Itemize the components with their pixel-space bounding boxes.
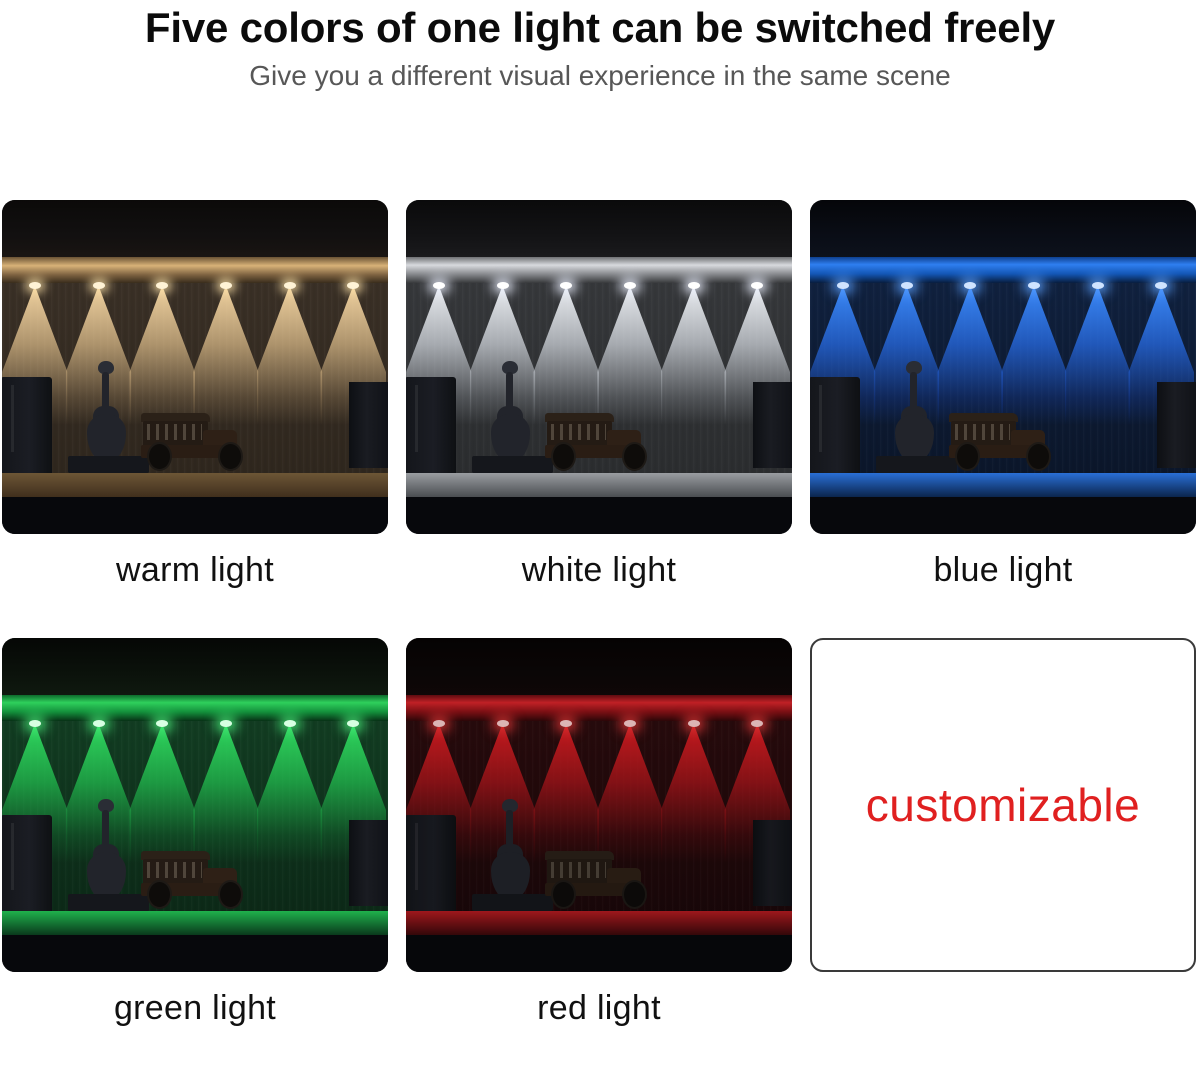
vintage-toy-car: [141, 851, 245, 909]
cello-body: [87, 852, 126, 899]
shelf-floor: [810, 473, 1196, 497]
light-cone: [533, 286, 599, 426]
cello-book-base: [876, 456, 957, 473]
gallery-cell-customizable: customizable: [810, 638, 1196, 1028]
cabinet-interior: [406, 257, 792, 498]
cabinet-base: [2, 497, 388, 534]
cello-body: [895, 414, 934, 461]
cello-body: [491, 414, 530, 461]
vintage-toy-car: [141, 413, 245, 471]
led-puck-icon: [624, 282, 636, 289]
led-puck-icon: [284, 720, 296, 727]
light-cone: [597, 724, 663, 864]
led-puck-icon: [93, 282, 105, 289]
led-puck-lights: [2, 282, 388, 294]
cello-figurine: [895, 363, 934, 462]
led-puck-icon: [347, 720, 359, 727]
led-puck-icon: [433, 282, 445, 289]
car-wheel: [955, 442, 980, 471]
led-puck-icon: [751, 282, 763, 289]
car-wheel: [218, 442, 243, 471]
led-puck-icon: [156, 720, 168, 727]
led-puck-icon: [837, 282, 849, 289]
light-cone: [533, 724, 599, 864]
cabinet-interior: [2, 695, 388, 936]
cabinet-scene: [406, 638, 792, 972]
led-puck-icon: [156, 282, 168, 289]
led-puck-icon: [284, 282, 296, 289]
book-stack-right: [349, 820, 388, 907]
book-stack-right: [1157, 382, 1196, 469]
led-puck-icon: [497, 720, 509, 727]
gallery-cell-blue: blue light: [810, 200, 1196, 590]
led-puck-icon: [688, 720, 700, 727]
light-color-gallery: warm light: [2, 200, 1198, 1028]
shelf-floor: [2, 473, 388, 497]
book-stack-left: [2, 377, 52, 473]
ceiling-area: [2, 638, 388, 698]
photo-panel-green-light[interactable]: [2, 638, 388, 972]
infographic-header: Five colors of one light can be switched…: [0, 2, 1200, 94]
light-cone: [257, 286, 323, 426]
gallery-cell-red: red light: [406, 638, 792, 1028]
cabinet-interior: [810, 257, 1196, 498]
vintage-toy-car: [949, 413, 1053, 471]
light-cone: [129, 286, 195, 426]
cabinet-scene: [406, 200, 792, 534]
book-stack-right: [753, 382, 792, 469]
led-puck-icon: [560, 282, 572, 289]
light-cone: [661, 286, 727, 426]
cabinet-base: [2, 935, 388, 972]
panel-caption-blue: blue light: [933, 550, 1072, 590]
cabinet-base: [406, 497, 792, 534]
light-cone: [257, 724, 323, 864]
cello-book-base: [472, 894, 553, 911]
led-puck-icon: [688, 282, 700, 289]
cabinet-base: [810, 497, 1196, 534]
led-puck-lights: [406, 720, 792, 732]
led-puck-icon: [751, 720, 763, 727]
led-puck-icon: [901, 282, 913, 289]
led-puck-icon: [1092, 282, 1104, 289]
ceiling-area: [406, 200, 792, 260]
cello-figurine: [87, 801, 126, 900]
light-cone: [1065, 286, 1131, 426]
light-cone: [193, 286, 259, 426]
ceiling-area: [406, 638, 792, 698]
gallery-cell-white: white light: [406, 200, 792, 590]
book-stack-right: [753, 820, 792, 907]
led-puck-icon: [347, 282, 359, 289]
led-puck-icon: [1155, 282, 1167, 289]
gallery-cell-green: green light: [2, 638, 388, 1028]
light-cone: [193, 724, 259, 864]
page-title: Five colors of one light can be switched…: [0, 2, 1200, 54]
page-subtitle: Give you a different visual experience i…: [0, 58, 1200, 94]
cello-figurine: [87, 363, 126, 462]
car-wheel: [622, 880, 647, 909]
led-puck-icon: [964, 282, 976, 289]
gallery-cell-warm: warm light: [2, 200, 388, 590]
book-stack-left: [406, 377, 456, 473]
cabinet-scene: [2, 200, 388, 534]
photo-panel-white-light[interactable]: [406, 200, 792, 534]
car-wheel: [147, 880, 172, 909]
ceiling-area: [810, 200, 1196, 260]
led-puck-lights: [406, 282, 792, 294]
ceiling-area: [2, 200, 388, 260]
panel-caption-white: white light: [522, 550, 677, 590]
cello-book-base: [68, 894, 149, 911]
cabinet-interior: [2, 257, 388, 498]
light-cone: [661, 724, 727, 864]
led-puck-icon: [220, 720, 232, 727]
cello-book-base: [68, 456, 149, 473]
cello-figurine: [491, 801, 530, 900]
book-stack-left: [406, 815, 456, 911]
car-wheel: [218, 880, 243, 909]
led-puck-icon: [29, 720, 41, 727]
cabinet-scene: [2, 638, 388, 972]
shelf-floor: [406, 473, 792, 497]
led-puck-icon: [220, 282, 232, 289]
customizable-card[interactable]: customizable: [810, 638, 1196, 972]
led-puck-icon: [1028, 282, 1040, 289]
cello-book-base: [472, 456, 553, 473]
led-puck-icon: [433, 720, 445, 727]
panel-caption-red: red light: [537, 988, 661, 1028]
led-puck-icon: [560, 720, 572, 727]
led-puck-icon: [93, 720, 105, 727]
led-puck-lights: [810, 282, 1196, 294]
car-wheel: [1026, 442, 1051, 471]
car-wheel: [551, 442, 576, 471]
cello-figurine: [491, 363, 530, 462]
shelf-floor: [406, 911, 792, 935]
vintage-toy-car: [545, 851, 649, 909]
light-cone: [597, 286, 663, 426]
cello-body: [87, 414, 126, 461]
photo-panel-warm-light[interactable]: [2, 200, 388, 534]
book-stack-left: [2, 815, 52, 911]
car-wheel: [147, 442, 172, 471]
light-cone: [937, 286, 1003, 426]
photo-panel-red-light[interactable]: [406, 638, 792, 972]
led-puck-icon: [29, 282, 41, 289]
cabinet-base: [406, 935, 792, 972]
car-wheel: [622, 442, 647, 471]
led-puck-icon: [497, 282, 509, 289]
book-stack-left: [810, 377, 860, 473]
book-stack-right: [349, 382, 388, 469]
shelf-floor: [2, 911, 388, 935]
light-cone: [1001, 286, 1067, 426]
panel-caption-warm: warm light: [116, 550, 274, 590]
panel-caption-green: green light: [114, 988, 276, 1028]
cabinet-interior: [406, 695, 792, 936]
cello-body: [491, 852, 530, 899]
led-puck-lights: [2, 720, 388, 732]
customizable-label: customizable: [866, 778, 1140, 832]
cabinet-scene: [810, 200, 1196, 534]
car-wheel: [551, 880, 576, 909]
photo-panel-blue-light[interactable]: [810, 200, 1196, 534]
vintage-toy-car: [545, 413, 649, 471]
led-puck-icon: [624, 720, 636, 727]
light-cone: [129, 724, 195, 864]
